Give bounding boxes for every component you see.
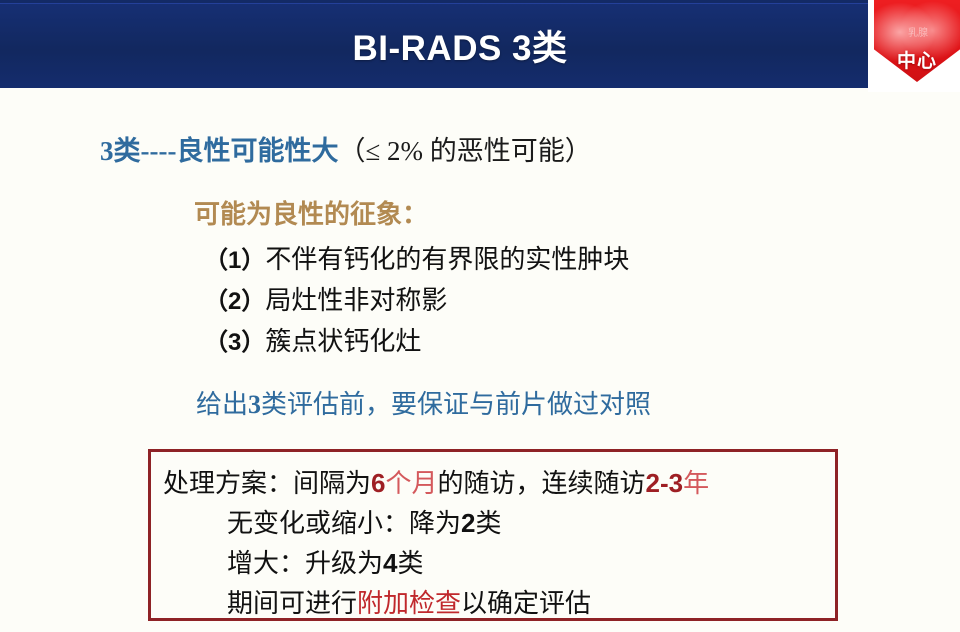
list-item-label: 不伴有钙化的有界限的实性肿块 (265, 245, 629, 274)
list-item-number: （1） (204, 247, 265, 274)
logo: 乳腺 中心 (868, 0, 960, 92)
category-heading-dark: （≤ 2% 的恶性可能） (338, 136, 591, 166)
plan-line-1: 处理方案：间隔为6个月的随访，连续随访2-3年 (163, 463, 709, 500)
plan-interval-number: 6 (371, 468, 385, 498)
plan-duration-unit: 年 (683, 469, 709, 498)
category-heading: 3类----良性可能性大（≤ 2% 的恶性可能） (100, 129, 592, 168)
comparison-note: 给出3类评估前，要保证与前片做过对照 (196, 384, 651, 421)
plan-line-1-part2: 的随访，连续随访 (438, 469, 646, 498)
logo-faint-text: 乳腺 (908, 24, 928, 39)
plan-line-3-part1: 增大：升级为 (227, 549, 383, 578)
plan-line-4: 期间可进行附加检查以确定评估 (227, 583, 591, 620)
plan-line-3-number: 4 (383, 548, 397, 578)
slide-canvas: BI-RADS 3类 乳腺 中心 3类----良性可能性大（≤ 2% 的恶性可能… (0, 0, 960, 632)
benign-signs-label: 可能为良性的征象： (194, 194, 428, 231)
plan-line-3-part2: 类 (397, 549, 423, 578)
plan-line-4-part1: 期间可进行 (227, 589, 357, 618)
list-item-number: （2） (204, 288, 265, 315)
management-plan-box: 处理方案：间隔为6个月的随访，连续随访2-3年 无变化或缩小：降为2类 增大：升… (148, 449, 838, 621)
list-item: （3）簇点状钙化灶 (204, 321, 421, 358)
list-item-label: 簇点状钙化灶 (265, 327, 421, 356)
plan-line-1-part1: 间隔为 (293, 469, 371, 498)
plan-line-2-number: 2 (461, 508, 475, 538)
comparison-note-prefix: 给出 (196, 390, 248, 419)
comparison-note-suffix: 类评估前，要保证与前片做过对照 (261, 390, 651, 419)
list-item: （1）不伴有钙化的有界限的实性肿块 (204, 239, 629, 276)
plan-line-2: 无变化或缩小：降为2类 (227, 503, 502, 540)
list-item-label: 局灶性非对称影 (265, 286, 447, 315)
list-item: （2）局灶性非对称影 (204, 280, 447, 317)
plan-line-4-part2: 以确定评估 (461, 589, 591, 618)
plan-additional-exam: 附加检查 (357, 589, 461, 618)
plan-label: 处理方案： (163, 469, 293, 498)
comparison-note-number: 3 (248, 390, 261, 419)
plan-line-3: 增大：升级为4类 (227, 543, 424, 580)
plan-interval-unit: 个月 (386, 469, 438, 498)
plan-line-2-part1: 无变化或缩小：降为 (227, 509, 461, 538)
list-item-number: （3） (204, 329, 265, 356)
plan-duration-number: 2-3 (646, 468, 684, 498)
plan-line-2-part2: 类 (475, 509, 501, 538)
category-heading-blue: 3类----良性可能性大 (100, 136, 338, 166)
slide-title: BI-RADS 3类 (0, 3, 920, 88)
logo-label: 中心 (874, 46, 960, 73)
